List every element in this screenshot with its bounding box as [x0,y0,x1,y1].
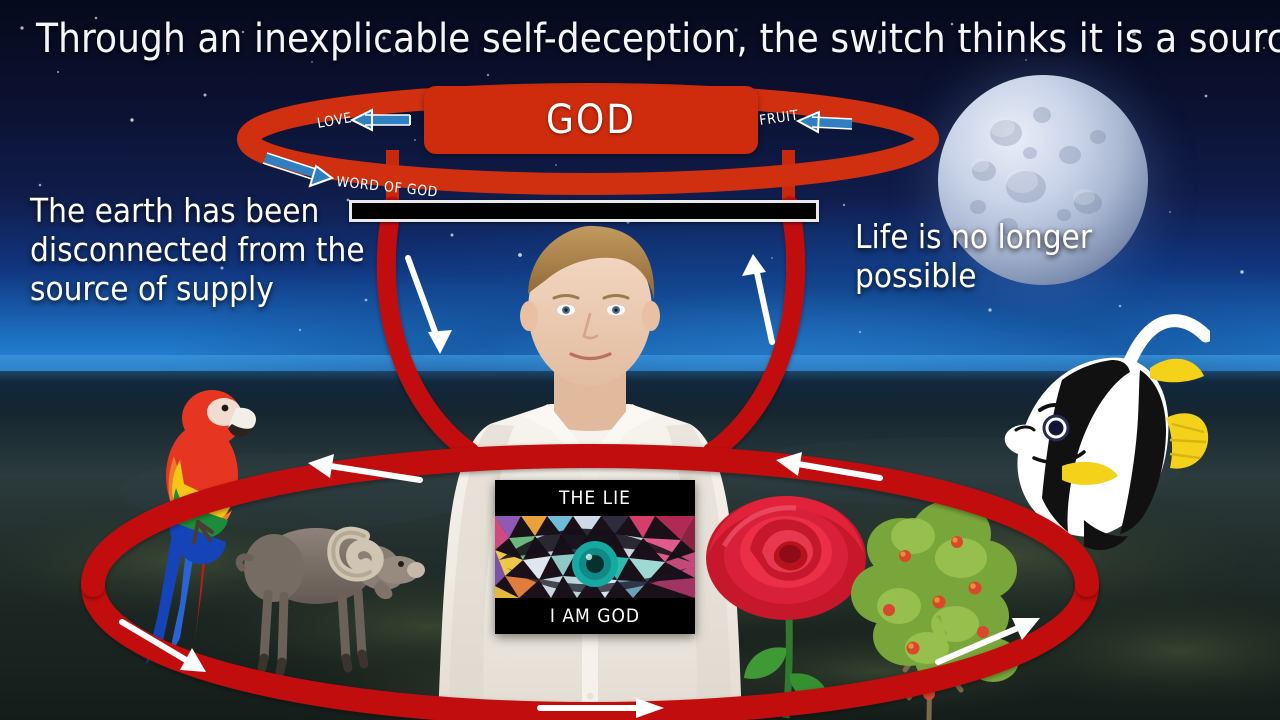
headline-text: Through an inexplicable self-deception, … [36,18,1216,60]
god-box: GOD [424,86,758,154]
slide-canvas: THE LIE [0,0,1280,720]
left-caption: The earth has been disconnected from the… [30,192,370,309]
switch-bar [349,200,819,222]
god-box-label: GOD [546,97,636,143]
right-caption: Life is no longer possible [855,218,1135,296]
